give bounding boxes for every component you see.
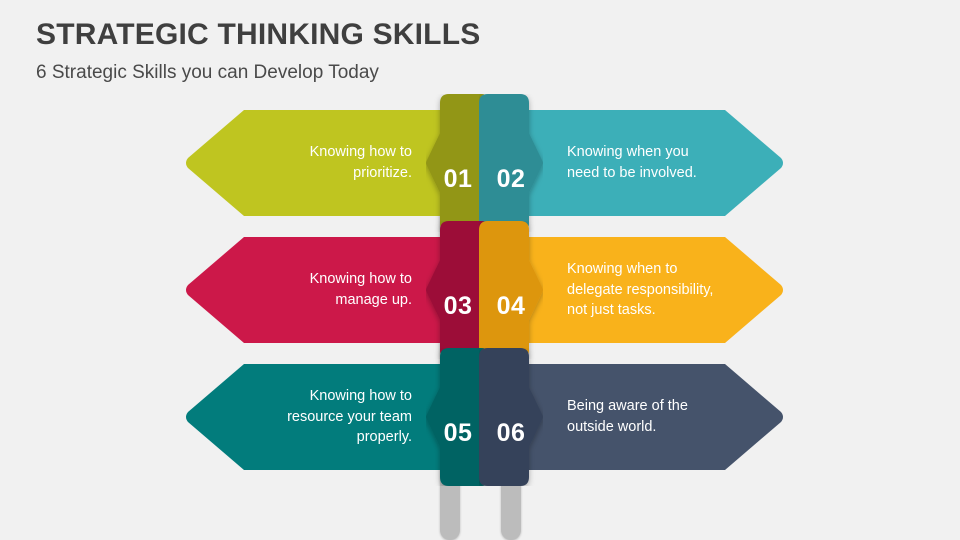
skill-label-line: Knowing how to [310, 386, 412, 407]
skill-label-line: properly. [357, 427, 412, 448]
skill-label-line: Knowing when you [567, 142, 689, 163]
skill-label-line: not just tasks. [567, 300, 656, 321]
skill-label-line: Knowing how to [310, 142, 412, 163]
skill-item-03[interactable]: 03Knowing how tomanage up. [186, 237, 486, 343]
skill-label-line: delegate responsibility, [567, 280, 713, 301]
six-step-arrow-diagram: 01Knowing how toprioritize. 02Knowing wh… [0, 0, 960, 540]
skill-label: Knowing when todelegate responsibility,n… [567, 237, 743, 343]
skill-label-line: outside world. [567, 417, 656, 438]
skill-label-line: Being aware of the [567, 396, 688, 417]
skill-item-01[interactable]: 01Knowing how toprioritize. [186, 110, 486, 216]
skill-label: Knowing how toresource your teamproperly… [222, 364, 412, 470]
number-badge-02 [479, 94, 543, 232]
skill-item-02[interactable]: 02Knowing when youneed to be involved. [483, 110, 783, 216]
skill-label-line: Knowing how to [310, 269, 412, 290]
skill-item-05[interactable]: 05Knowing how toresource your teamproper… [186, 364, 486, 470]
number-badge-06 [479, 348, 543, 486]
skill-label-line: manage up. [335, 290, 412, 311]
skill-item-04[interactable]: 04Knowing when todelegate responsibility… [483, 237, 783, 343]
slide: STRATEGIC THINKING SKILLS 6 Strategic Sk… [0, 0, 960, 540]
skill-label: Being aware of theoutside world. [567, 364, 743, 470]
skill-label: Knowing how toprioritize. [222, 110, 412, 216]
skill-label: Knowing how tomanage up. [222, 237, 412, 343]
skill-label-line: prioritize. [353, 163, 412, 184]
skill-label-line: resource your team [287, 407, 412, 428]
skill-label-line: need to be involved. [567, 163, 697, 184]
number-badge-04 [479, 221, 543, 359]
skill-label-line: Knowing when to [567, 259, 677, 280]
skill-item-06[interactable]: 06Being aware of theoutside world. [483, 364, 783, 470]
skill-label: Knowing when youneed to be involved. [567, 110, 743, 216]
